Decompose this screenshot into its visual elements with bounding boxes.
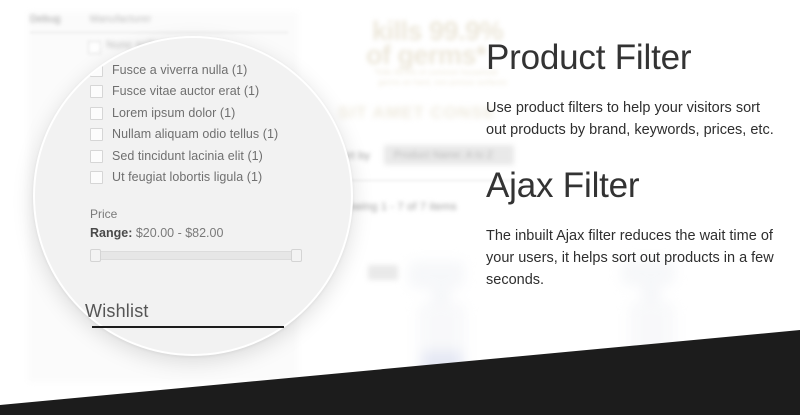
ajax-filter-heading: Ajax Filter xyxy=(486,168,776,203)
ajax-filter-body: The inbuilt Ajax filter reduces the wait… xyxy=(486,225,776,291)
filter-option-4[interactable]: Sed tincidunt lacinia elit (1) xyxy=(90,149,263,163)
filter-option-2[interactable]: Lorem ipsum dolor (1) xyxy=(90,106,235,120)
price-range-slider[interactable] xyxy=(90,249,302,262)
copy-block-product-filter: Product Filter Use product filters to he… xyxy=(486,40,776,141)
hero-headline-line2: of germs* xyxy=(366,40,486,71)
hero-caps-text: SIT AMET CONSE xyxy=(338,103,496,123)
product-filter-heading: Product Filter xyxy=(486,40,776,75)
checkbox-icon[interactable] xyxy=(90,107,103,120)
checkbox-icon[interactable] xyxy=(90,171,103,184)
background-sidebar-heading: Debug xyxy=(30,14,60,25)
price-section-title: Price xyxy=(90,207,117,221)
filter-option-0[interactable]: Fusce a viverra nulla (1) xyxy=(90,63,247,77)
product-photo-spray-bottle-left xyxy=(400,255,490,385)
filter-option-label: Fusce a viverra nulla (1) xyxy=(112,63,247,77)
filter-option-label: Lorem ipsum dolor (1) xyxy=(112,106,235,120)
filter-option-5[interactable]: Ut feugiat lobortis ligula (1) xyxy=(90,170,262,184)
magnifier-circle: Fusce a viverra nulla (1) Fusce vitae au… xyxy=(33,36,353,356)
background-sidebar-subheading: Manufacturer xyxy=(90,14,151,25)
wishlist-heading: Wishlist xyxy=(85,301,149,322)
product-filter-body: Use product filters to help your visitor… xyxy=(486,97,776,141)
slider-handle-max[interactable] xyxy=(291,249,302,262)
price-range-label: Range: xyxy=(90,226,132,240)
filter-option-label: Fusce vitae auctor erat (1) xyxy=(112,84,259,98)
checkbox-icon[interactable] xyxy=(90,64,103,77)
filter-option-3[interactable]: Nullam aliquam odio tellus (1) xyxy=(90,127,278,141)
wishlist-underline xyxy=(92,326,284,328)
background-filter-button xyxy=(368,265,398,280)
checkbox-icon[interactable] xyxy=(90,85,103,98)
slider-handle-min[interactable] xyxy=(90,249,101,262)
checkbox-icon[interactable] xyxy=(90,150,103,163)
checkbox-icon[interactable] xyxy=(90,128,103,141)
filter-option-label: Ut feugiat lobortis ligula (1) xyxy=(112,170,262,184)
filter-option-label: Sed tincidunt lacinia elit (1) xyxy=(112,149,263,163)
magnifier-content: Fusce a viverra nulla (1) Fusce vitae au… xyxy=(33,36,353,356)
background-divider-1 xyxy=(30,32,288,33)
hero-fineprint-line1: *Kills 99.9% of common household xyxy=(374,68,498,77)
price-range-text: Range: $20.00 - $82.00 xyxy=(90,226,223,240)
slider-track[interactable] xyxy=(90,251,302,260)
background-sort-value: Product Name: A to Z xyxy=(394,150,493,161)
filter-option-label: Nullam aliquam odio tellus (1) xyxy=(112,127,278,141)
filter-option-1[interactable]: Fusce vitae auctor erat (1) xyxy=(90,84,259,98)
price-range-value: $20.00 - $82.00 xyxy=(136,226,224,240)
copy-block-ajax-filter: Ajax Filter The inbuilt Ajax filter redu… xyxy=(486,168,776,291)
screenshot-canvas: kills 99.9% of germs* *Kills 99.9% of co… xyxy=(0,0,800,415)
